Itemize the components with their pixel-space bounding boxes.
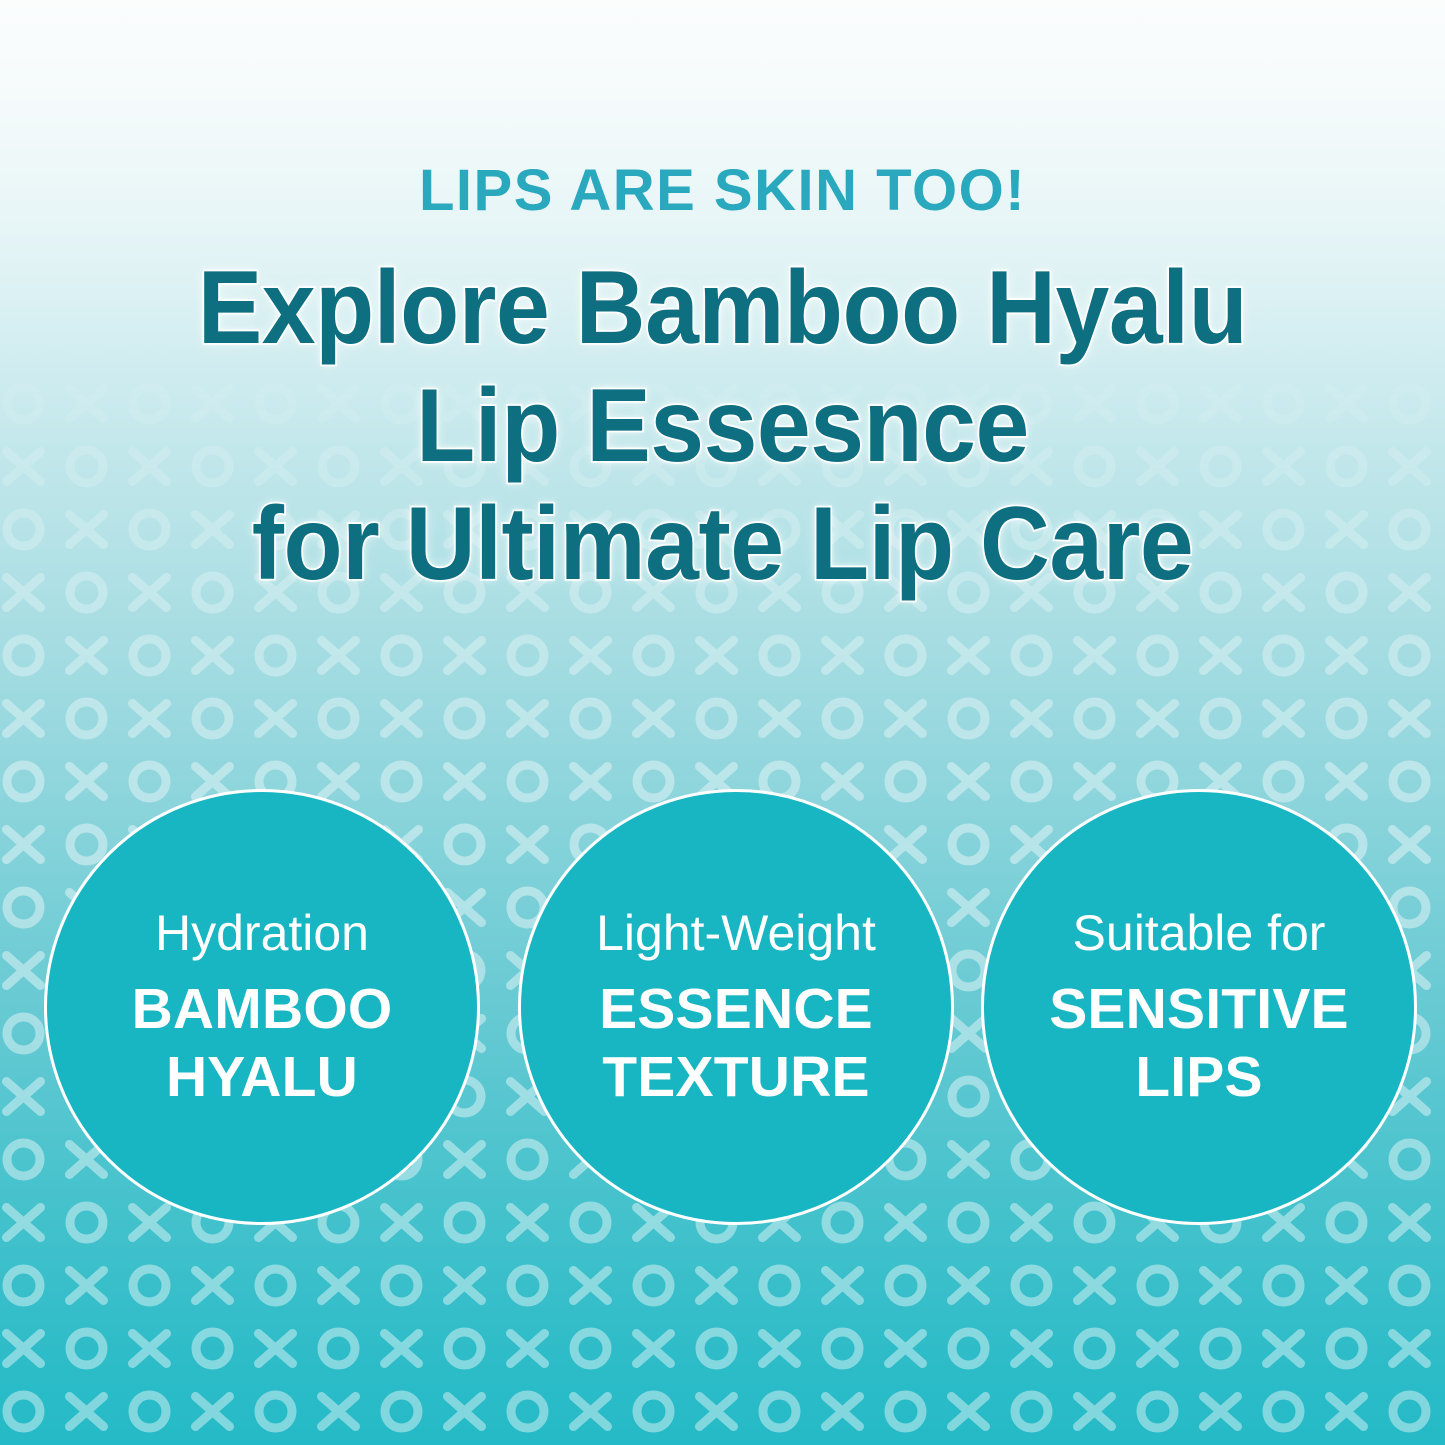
- badge-main-line-2: LIPS: [1049, 1043, 1349, 1111]
- badge-main-line-2: TEXTURE: [599, 1043, 873, 1111]
- badge-main-label: BAMBOO HYALU: [132, 975, 393, 1111]
- badge-lead-label: Suitable for: [1073, 903, 1326, 963]
- headline-line-1: Explore Bamboo Hyalu: [51, 249, 1395, 367]
- feature-badge-light-weight: Light-Weight ESSENCE TEXTURE: [518, 789, 954, 1225]
- badge-main-label: ESSENCE TEXTURE: [599, 975, 873, 1111]
- badge-lead-label: Hydration: [155, 903, 369, 963]
- badge-main-line-1: SENSITIVE: [1049, 975, 1349, 1043]
- badge-main-label: SENSITIVE LIPS: [1049, 975, 1349, 1111]
- feature-badge-row: Hydration BAMBOO HYALU Light-Weight ESSE…: [0, 789, 1445, 1229]
- page-title: Explore Bamboo Hyalu Lip Essesnce for Ul…: [0, 249, 1445, 603]
- promo-poster: LIPS ARE SKIN TOO! Explore Bamboo Hyalu …: [0, 0, 1445, 1445]
- headline-line-2: Lip Essesnce: [51, 367, 1395, 485]
- badge-lead-label: Light-Weight: [596, 903, 876, 963]
- feature-badge-hydration: Hydration BAMBOO HYALU: [44, 789, 480, 1225]
- feature-badge-sensitive-lips: Suitable for SENSITIVE LIPS: [981, 789, 1417, 1225]
- badge-main-line-1: ESSENCE: [599, 975, 873, 1043]
- eyebrow-text: LIPS ARE SKIN TOO!: [0, 157, 1445, 224]
- headline-line-3: for Ultimate Lip Care: [51, 485, 1395, 603]
- badge-main-line-2: HYALU: [132, 1043, 393, 1111]
- badge-main-line-1: BAMBOO: [132, 975, 393, 1043]
